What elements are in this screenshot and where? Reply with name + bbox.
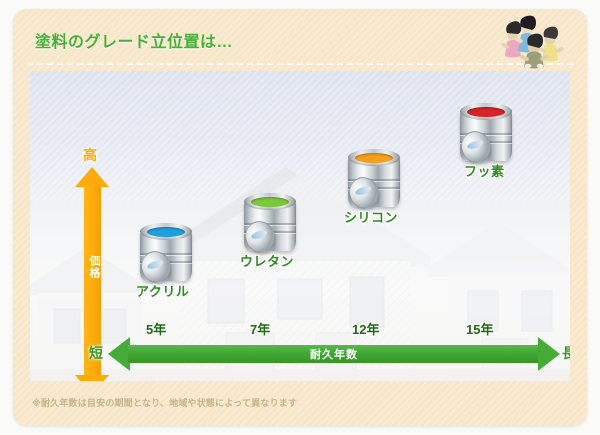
page-title: 塗料のグレード立位置は… xyxy=(35,28,233,52)
price-arrow-up-head-icon xyxy=(75,167,109,187)
paint-can-urethane xyxy=(244,193,296,251)
price-high-label: 高 xyxy=(83,145,97,165)
year-label-fluorine: 15年 xyxy=(466,319,493,338)
durability-axis: 耐久年数 xyxy=(108,337,560,371)
durability-short-label: 短 xyxy=(89,343,103,363)
infographic-card: 塗料のグレード立位置は… xyxy=(13,9,587,426)
paint-label-fluorine: フッ素 xyxy=(464,161,505,180)
paint-can-acrylic xyxy=(140,223,192,281)
can-paint-surface xyxy=(251,197,289,207)
paint-can-fluorine xyxy=(460,103,512,161)
paint-can-silicon xyxy=(348,149,400,207)
family-group-illustration xyxy=(487,13,579,69)
paint-label-acrylic: アクリル xyxy=(136,281,189,300)
price-arrow-down-head-icon xyxy=(75,375,109,381)
diagram-panel: 高 価格 安 アクリル 5年 xyxy=(30,71,570,381)
footnote-text: ※耐久年数は目安の期間となり、地域や状態によって異なります xyxy=(32,396,297,409)
durability-long-label: 長 xyxy=(562,343,570,363)
price-axis-label: 価格 xyxy=(85,255,100,279)
year-label-silicon: 12年 xyxy=(352,319,379,338)
paint-label-urethane: ウレタン xyxy=(240,251,294,270)
year-label-acrylic: 5年 xyxy=(146,319,166,338)
can-paint-surface xyxy=(467,107,505,117)
can-paint-surface xyxy=(147,227,185,237)
paint-label-silicon: シリコン xyxy=(344,207,398,226)
family-group-icon xyxy=(487,13,579,69)
can-paint-surface xyxy=(355,153,393,163)
durability-axis-label: 耐久年数 xyxy=(108,346,560,362)
year-label-urethane: 7年 xyxy=(250,319,270,338)
